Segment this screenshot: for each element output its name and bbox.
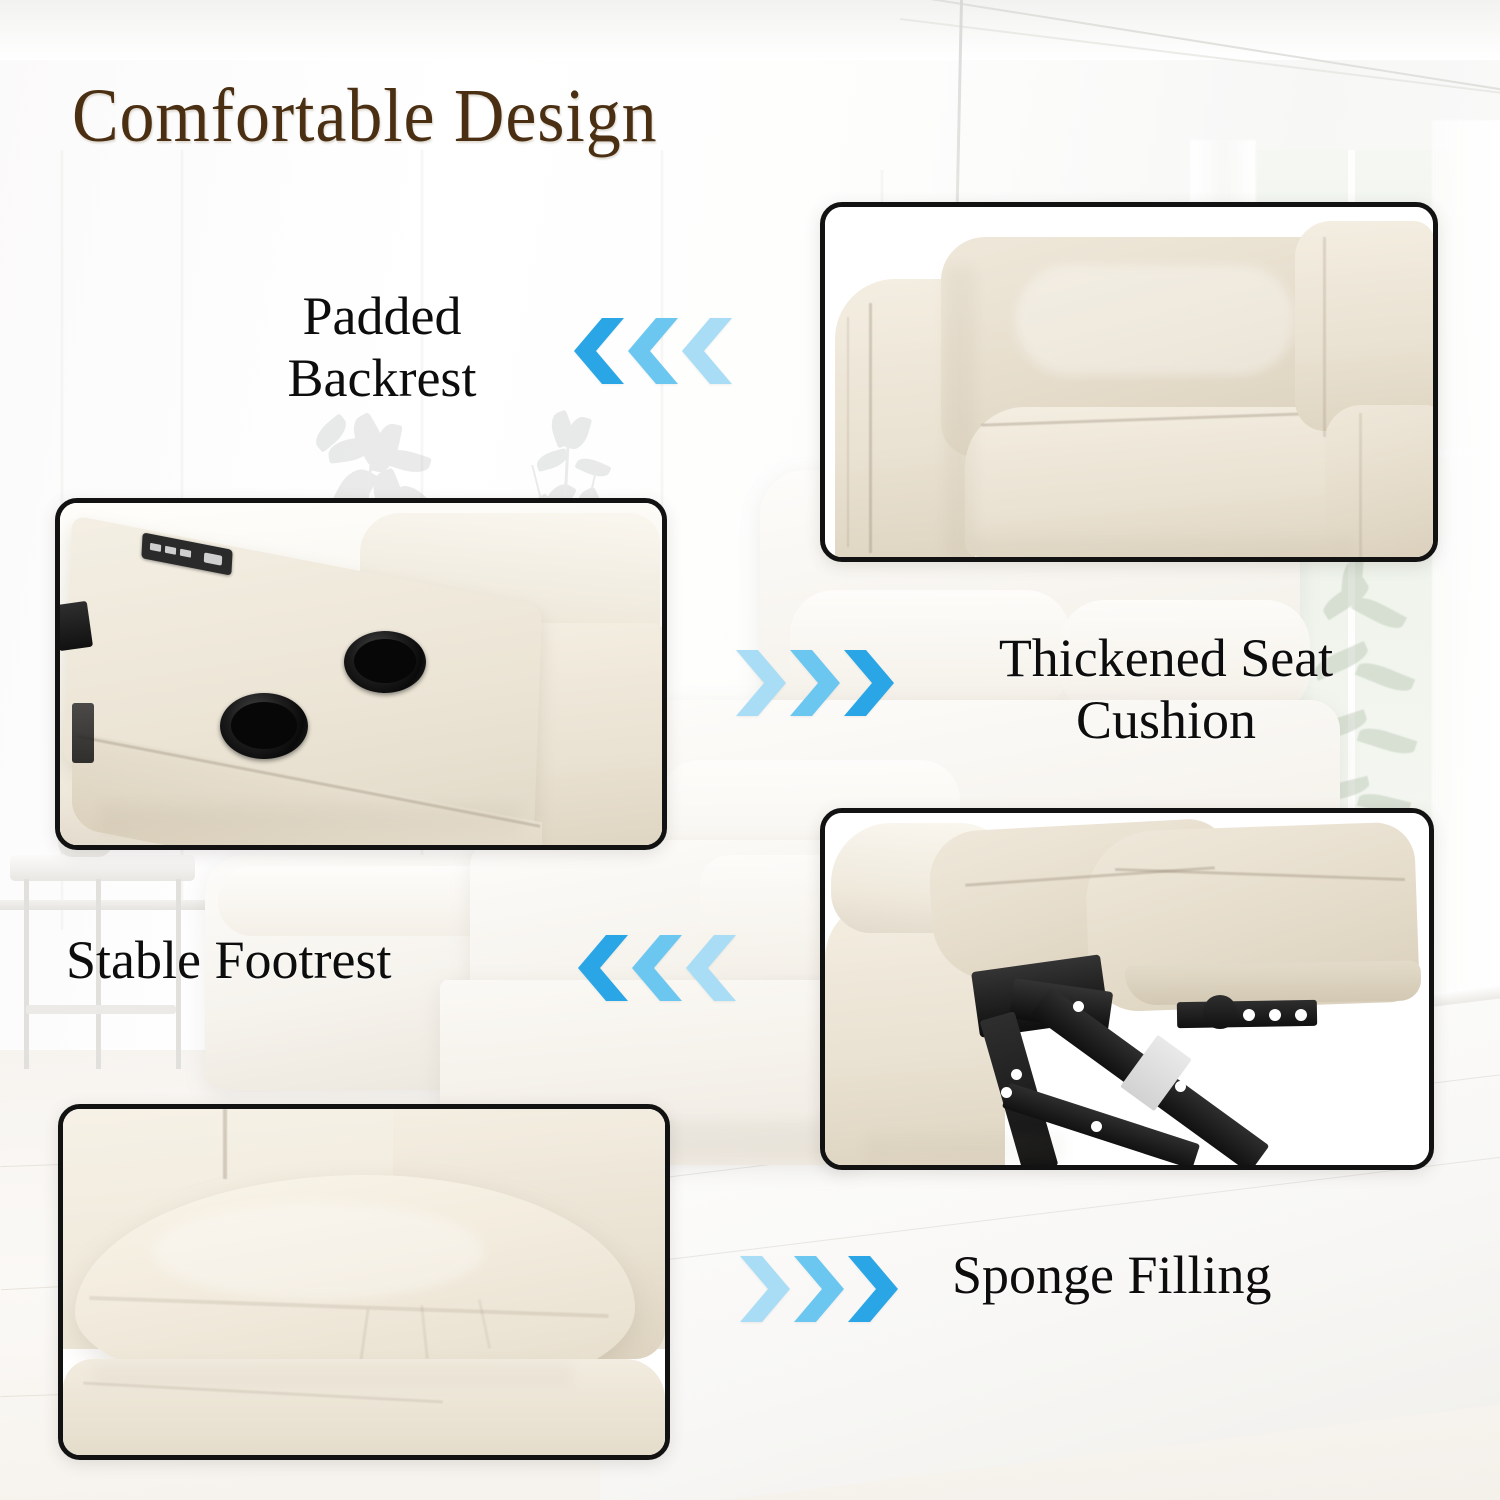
mechanism-pivot-hub: [1203, 995, 1237, 1029]
sponge-backrest-divider: [223, 1109, 227, 1179]
curtain-right: [1432, 120, 1500, 1000]
backrest-wing-seam: [869, 303, 872, 553]
backrest-right-lower: [1325, 405, 1433, 557]
bolt-7: [1191, 1037, 1202, 1048]
infographic-canvas: Comfortable Design: [0, 0, 1500, 1500]
sponge-cushion-highlight: [153, 1203, 483, 1299]
label-padded-backrest: Padded Backrest: [232, 286, 532, 409]
arrow-group-sponge-filling: [740, 1254, 898, 1324]
sponge-cushion-shadow: [93, 1361, 573, 1387]
bolt-9: [1091, 1121, 1102, 1132]
backrest-lumbar-roll: [965, 407, 1365, 557]
panel-console-image: [60, 503, 662, 845]
backrest-upper-highlight: [1015, 265, 1295, 375]
bolt-2: [1011, 1069, 1022, 1080]
panel-padded-backrest-image: [825, 207, 1433, 557]
usb-port-2: [165, 546, 176, 555]
bolt-3: [1001, 1087, 1012, 1098]
panel-sponge-image: [63, 1109, 665, 1455]
bolt-8: [1175, 1081, 1186, 1092]
backrest-right-wing: [1295, 221, 1433, 431]
cup-holder-left: [220, 693, 308, 759]
backrest-shadow-bottom: [975, 537, 1355, 557]
side-table-leg-1: [24, 879, 29, 1069]
arrow-group-padded-backrest: [574, 316, 732, 386]
usb-port-3: [180, 549, 191, 558]
chevron-right-icon-set-2: [740, 1254, 898, 1324]
label-stable-footrest: Stable Footrest: [66, 930, 586, 992]
label-sponge-filling: Sponge Filling: [952, 1245, 1422, 1307]
arrow-group-thickened-seat-cushion: [736, 648, 894, 718]
backrest-right-seam: [1323, 237, 1326, 437]
mechanism-footrest-underside: [1125, 960, 1422, 1005]
panel-padded-backrest[interactable]: [820, 202, 1438, 562]
bolt-5: [1269, 1009, 1281, 1021]
power-outlet: [204, 552, 223, 565]
bolt-1: [1073, 1001, 1084, 1012]
bolt-4: [1243, 1009, 1255, 1021]
panel-console-cupholders[interactable]: [55, 498, 667, 850]
chevron-right-icon-set: [736, 648, 894, 718]
mechanism-shadow: [865, 1133, 1065, 1163]
backrest-shadow-left: [945, 267, 975, 557]
ceiling: [0, 0, 1500, 60]
side-table-shelf: [26, 1005, 176, 1014]
usb-port-1: [150, 543, 161, 552]
chevron-left-icon-set-2: [578, 933, 736, 1003]
console-hinge-strap-2: [72, 703, 94, 763]
backrest-wing-seam-2: [847, 317, 849, 547]
cup-holder-right-well: [354, 639, 416, 683]
side-table-top: [10, 855, 195, 881]
bolt-6: [1295, 1009, 1307, 1021]
label-thickened-seat-cushion: Thickened Seat Cushion: [926, 628, 1406, 751]
panel-mechanism-image: [825, 813, 1429, 1165]
page-title: Comfortable Design: [72, 78, 658, 154]
bolt-10: [1067, 1137, 1078, 1148]
cup-holder-left-well: [231, 702, 297, 749]
console-shadow: [100, 803, 520, 833]
arrow-group-stable-footrest: [578, 933, 736, 1003]
cup-holder-right: [344, 631, 426, 693]
backrest-right-seam-2: [1359, 413, 1362, 557]
chevron-left-icon-set: [574, 316, 732, 386]
panel-sponge-cushion[interactable]: [58, 1104, 670, 1460]
panel-footrest-mechanism[interactable]: [820, 808, 1434, 1170]
